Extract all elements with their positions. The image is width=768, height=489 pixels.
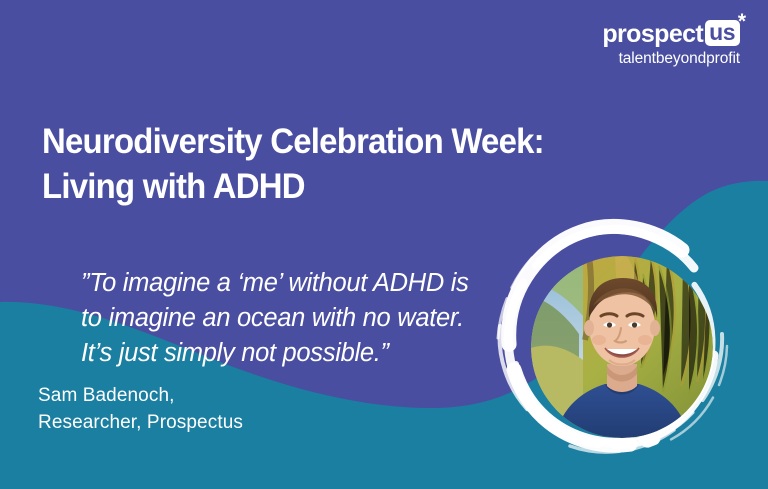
logo-us-badge: us * bbox=[705, 20, 740, 46]
quote-attribution: Sam Badenoch, Researcher, Prospectus bbox=[38, 383, 243, 437]
logo-word-prospect: prospect bbox=[602, 22, 703, 47]
page-title: Neurodiversity Celebration Week: Living … bbox=[42, 120, 606, 210]
attribution-role: Researcher, Prospectus bbox=[38, 410, 243, 437]
attribution-name: Sam Badenoch, bbox=[38, 383, 243, 410]
portrait-photo: Smiling man in blue t-shirt outdoors in … bbox=[531, 256, 713, 438]
avatar: Smiling man in blue t-shirt outdoors in … bbox=[531, 256, 713, 438]
logo-tagline: talentbeyondprofit bbox=[602, 51, 740, 67]
portrait-frame: Smiling man in blue t-shirt outdoors in … bbox=[486, 214, 730, 458]
promo-card: prospect us * talentbeyondprofit Neurodi… bbox=[0, 0, 768, 489]
pull-quote-line-1: ”To imagine a ‘me’ without ADHD is bbox=[81, 266, 551, 301]
asterisk-icon: * bbox=[738, 11, 746, 32]
page-title-line-1: Neurodiversity Celebration Week: bbox=[42, 120, 606, 165]
logo-wordmark-row: prospect us * bbox=[602, 20, 740, 46]
pull-quote-line-3: It’s just simply not possible.” bbox=[81, 336, 551, 371]
prospectus-logo[interactable]: prospect us * talentbeyondprofit bbox=[602, 20, 740, 67]
pull-quote: ”To imagine a ‘me’ without ADHD is to im… bbox=[81, 266, 551, 372]
logo-badge-text: us bbox=[709, 21, 735, 44]
pull-quote-line-2: to imagine an ocean with no water. bbox=[81, 301, 551, 336]
page-title-line-2: Living with ADHD bbox=[42, 165, 606, 210]
